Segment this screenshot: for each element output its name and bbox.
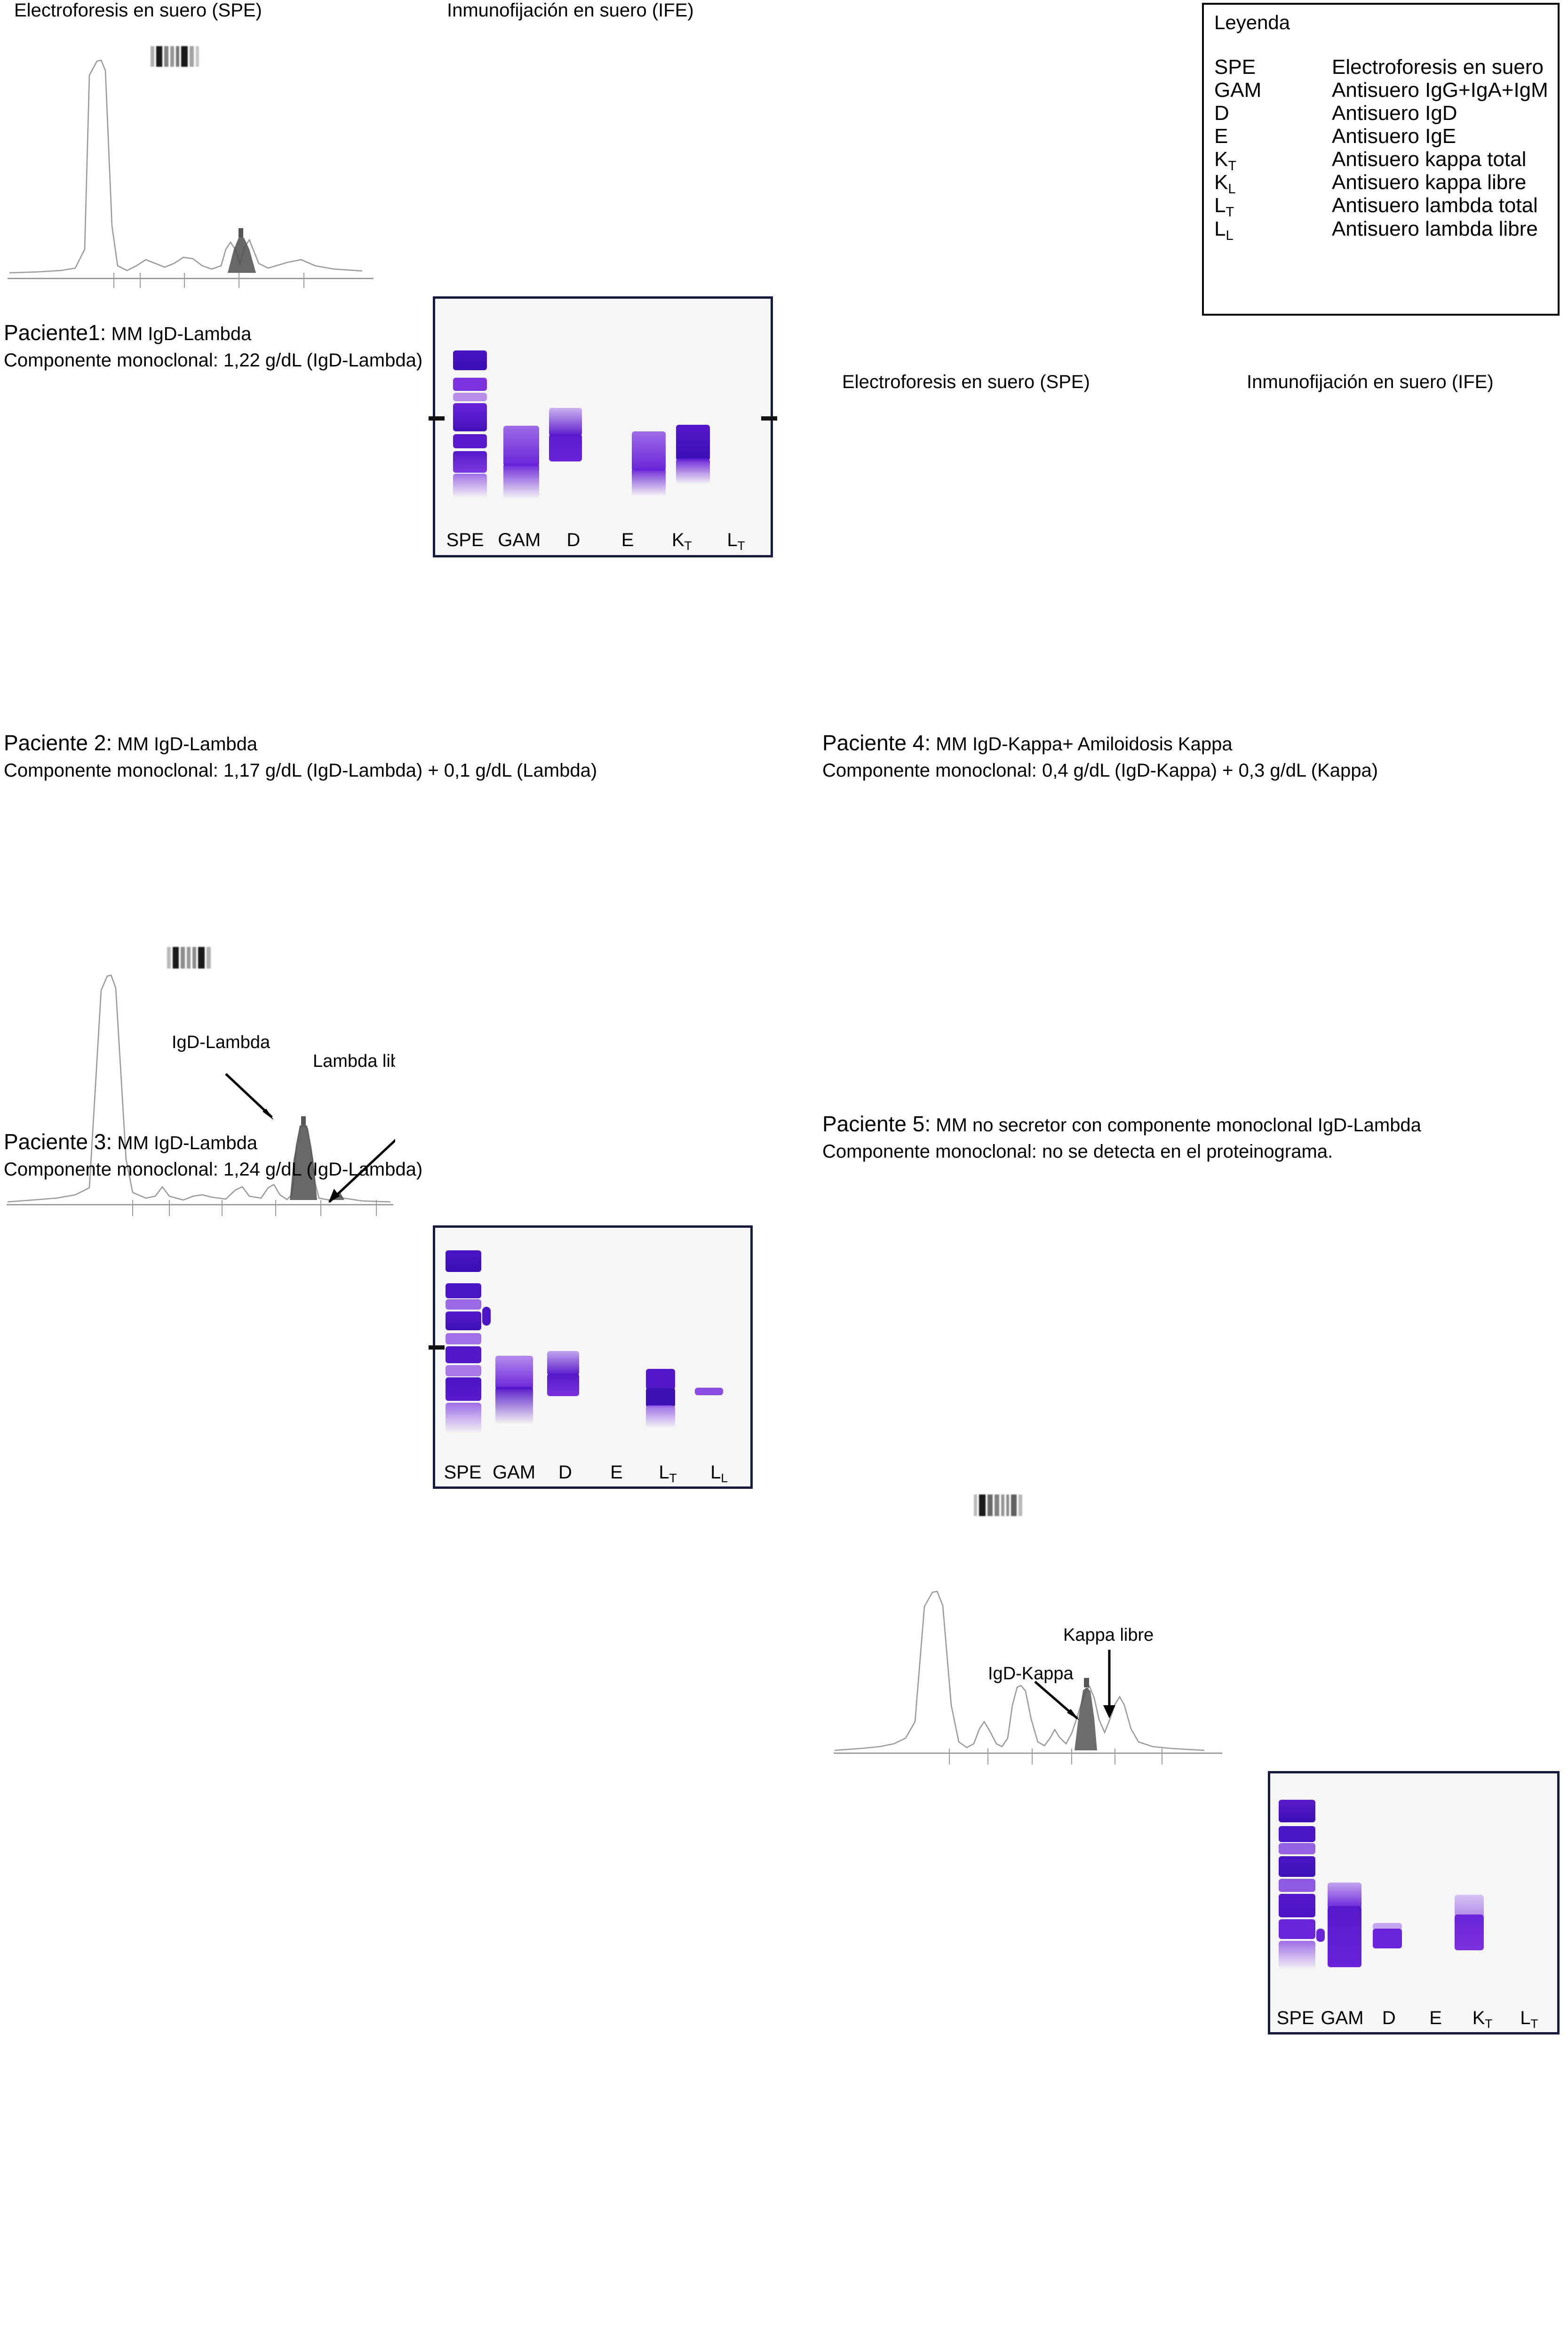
lane-label-e: E	[591, 1463, 642, 1482]
legend-key: SPE	[1214, 56, 1332, 79]
legend-key-text: GAM	[1214, 79, 1261, 102]
patient2-component: Componente monoclonal: 1,17 g/dL (IgD-La…	[4, 760, 597, 781]
patient1-component: Componente monoclonal: 1,22 g/dL (IgD-La…	[4, 350, 422, 371]
patient1-caption-line1: Paciente1: MM IgD-Lambda	[4, 320, 422, 345]
legend-box: Leyenda SPE Electroforesis en suero GAM …	[1202, 3, 1560, 316]
patient2-lane-labels: SPE GAM D E LT LL	[435, 1451, 750, 1486]
lane-label-d: D	[1366, 2009, 1412, 2027]
barcode-strip-icon	[151, 46, 199, 67]
legend-desc: Antisuero IgD	[1332, 102, 1548, 125]
patient1-caption: Paciente1: MM IgD-Lambda Componente mono…	[4, 320, 422, 371]
patient2-caption-line1: Paciente 2: MM IgD-Lambda	[4, 730, 597, 755]
gel-band	[547, 1351, 579, 1375]
patient5-name: Paciente 5:	[822, 1112, 931, 1136]
gel-band	[453, 350, 487, 370]
legend-key: D	[1214, 102, 1332, 125]
patient2-annotation-lambda-libre: Lambda libre	[313, 1051, 395, 1072]
patient3-component: Componente monoclonal: 1,24 g/dL (IgD-La…	[4, 1159, 422, 1180]
gel-band	[1279, 1919, 1315, 1939]
patient2-diagnosis: MM IgD-Lambda	[112, 734, 257, 755]
ife-title: Inmunofijación en suero (IFE)	[447, 0, 694, 21]
patient5-caption-line1: Paciente 5: MM no secretor con component…	[822, 1111, 1421, 1136]
patient4-component: Componente monoclonal: 0,4 g/dL (IgD-Kap…	[822, 760, 1378, 781]
patient5-caption: Paciente 5: MM no secretor con component…	[822, 1111, 1421, 1162]
patient1-ife-title-wrap: Inmunofijación en suero (IFE)	[447, 0, 694, 21]
patient4-spe-trace: IgD-Kappa Kappa libre	[833, 1484, 1223, 1766]
gel-band	[446, 1311, 481, 1330]
legend-key-text: L	[1214, 217, 1226, 240]
legend-key: LT	[1214, 194, 1332, 217]
legend-row: GAM Antisuero IgG+IgA+IgM	[1214, 79, 1548, 102]
patient1-spe-title-wrap: Electroforesis en suero (SPE)	[14, 0, 262, 21]
gel-band	[547, 1374, 579, 1396]
legend-desc: Antisuero lambda libre	[1332, 217, 1548, 240]
spe-title: Electroforesis en suero (SPE)	[842, 372, 1090, 393]
gel-band	[1279, 1941, 1315, 1970]
gel-band	[676, 459, 710, 484]
gel-band	[646, 1406, 675, 1428]
lane-label-e: E	[1412, 2009, 1459, 2027]
lane-label-spe: SPE	[1272, 2009, 1319, 2027]
patient2-ife-gel: SPE GAM D E LT LL	[433, 1225, 753, 1489]
lane-label-gam: GAM	[492, 531, 546, 549]
patient1-lane-labels: SPE GAM D E KT LT	[435, 516, 771, 555]
gel-band	[446, 1377, 481, 1401]
legend-key-text: K	[1214, 171, 1228, 194]
gel-band	[453, 378, 487, 391]
patient1-ife-gel: SPE GAM D E KT LT	[433, 296, 773, 557]
patient3-caption: Paciente 3: MM IgD-Lambda Componente mon…	[4, 1129, 422, 1180]
gel-band	[453, 393, 487, 401]
gel-band	[1279, 1843, 1315, 1854]
patient2-caption: Paciente 2: MM IgD-Lambda Componente mon…	[4, 730, 597, 781]
gel-band	[446, 1283, 481, 1298]
lane-label-ll: LL	[693, 1463, 745, 1482]
patient2-annotation-igd-lambda: IgD-Lambda	[172, 1033, 270, 1053]
lane-label-e: E	[601, 531, 655, 549]
gel-band	[453, 451, 487, 473]
lane-label-d: D	[546, 531, 600, 549]
gel-background	[435, 1228, 750, 1486]
spe-title: Electroforesis en suero (SPE)	[14, 0, 262, 21]
patient4-caption-line1: Paciente 4: MM IgD-Kappa+ Amiloidosis Ka…	[822, 730, 1378, 755]
legend-desc: Electroforesis en suero	[1332, 56, 1548, 79]
patient1-name: Paciente1:	[4, 320, 106, 345]
patient4-spe-title-wrap: Electroforesis en suero (SPE)	[842, 372, 1090, 393]
gel-right-tick-marker	[761, 416, 777, 421]
gel-band	[453, 403, 487, 431]
patient4-lane-labels: SPE GAM D E KT LT	[1270, 1996, 1557, 2032]
lane-label-kt: KT	[1459, 2009, 1505, 2027]
barcode-strip-icon	[974, 1494, 1022, 1516]
legend-row: E Antisuero IgE	[1214, 125, 1548, 148]
gel-band	[549, 408, 582, 436]
gel-band	[446, 1346, 481, 1363]
legend-key-subscript: L	[1226, 228, 1233, 243]
gel-band	[503, 463, 539, 499]
lane-label-gam: GAM	[1319, 2009, 1365, 2027]
gel-band	[446, 1333, 481, 1344]
legend-row: LL Antisuero lambda libre	[1214, 217, 1548, 240]
legend-desc: Antisuero IgE	[1332, 125, 1548, 148]
patient4-diagnosis: MM IgD-Kappa+ Amiloidosis Kappa	[931, 734, 1232, 755]
lane-label-kt: KT	[655, 531, 709, 549]
gel-band	[632, 468, 666, 496]
gel-left-tick-marker	[429, 416, 445, 421]
gel-band	[1279, 1826, 1315, 1842]
gel-band	[646, 1369, 675, 1390]
ife-title: Inmunofijación en suero (IFE)	[1247, 372, 1494, 393]
gel-band	[1328, 1906, 1361, 1967]
legend-row: D Antisuero IgD	[1214, 102, 1548, 125]
patient5-diagnosis: MM no secretor con componente monoclonal…	[931, 1115, 1421, 1136]
gel-band	[632, 431, 666, 471]
patient1-diagnosis: MM IgD-Lambda	[106, 324, 251, 344]
legend-key-text: D	[1214, 102, 1229, 125]
patient5-component: Componente monoclonal: no se detecta en …	[822, 1141, 1421, 1162]
patient4-ife-gel: SPE GAM D E KT LT	[1268, 1771, 1560, 2034]
legend-key-text: SPE	[1214, 56, 1256, 79]
legend-key-text: K	[1214, 148, 1228, 171]
legend-key: KT	[1214, 148, 1332, 171]
lane-label-gam: GAM	[488, 1463, 540, 1482]
gel-band	[446, 1250, 481, 1272]
barcode-strip-icon	[167, 947, 211, 969]
legend-row: KL Antisuero kappa libre	[1214, 171, 1548, 194]
gel-band	[1373, 1929, 1402, 1948]
legend-title: Leyenda	[1214, 11, 1558, 34]
gel-band	[1316, 1929, 1325, 1942]
lane-label-d: D	[540, 1463, 591, 1482]
lane-label-spe: SPE	[438, 531, 492, 549]
lane-label-lt: LT	[642, 1463, 693, 1482]
gel-band	[446, 1299, 481, 1310]
patient4-caption: Paciente 4: MM IgD-Kappa+ Amiloidosis Ka…	[822, 730, 1378, 781]
gel-band	[503, 426, 539, 466]
gel-band	[1279, 1894, 1315, 1917]
gel-band	[646, 1388, 675, 1407]
legend-key-subscript: T	[1228, 159, 1236, 174]
legend-key: E	[1214, 125, 1332, 148]
gel-band	[495, 1356, 533, 1390]
gel-band	[446, 1403, 481, 1434]
legend-key-subscript: T	[1226, 205, 1234, 220]
lane-label-spe: SPE	[437, 1463, 488, 1482]
legend-desc: Antisuero kappa total	[1332, 148, 1548, 171]
patient4-annotation-kappa-libre: Kappa libre	[1063, 1625, 1154, 1645]
legend-desc: Antisuero kappa libre	[1332, 171, 1548, 194]
legend-key: GAM	[1214, 79, 1332, 102]
patient3-caption-line1: Paciente 3: MM IgD-Lambda	[4, 1129, 422, 1154]
gel-band	[1455, 1915, 1484, 1950]
lane-label-lt: LT	[1506, 2009, 1552, 2027]
patient2-name: Paciente 2:	[4, 731, 112, 755]
gel-band	[446, 1365, 481, 1376]
gel-band	[1279, 1879, 1315, 1892]
lane-label-lt: LT	[709, 531, 763, 549]
legend-row: LT Antisuero lambda total	[1214, 194, 1548, 217]
patient4-name: Paciente 4:	[822, 731, 931, 755]
gel-left-tick-marker	[429, 1345, 445, 1350]
legend-row: SPE Electroforesis en suero	[1214, 56, 1548, 79]
gel-band	[1279, 1800, 1315, 1822]
patient4-annotation-igd-kappa: IgD-Kappa	[988, 1664, 1074, 1684]
gel-band	[453, 434, 487, 448]
gel-band	[495, 1387, 533, 1424]
patient1-spe-trace	[5, 28, 376, 292]
legend-key: LL	[1214, 217, 1332, 240]
legend-table: SPE Electroforesis en suero GAM Antisuer…	[1214, 56, 1548, 240]
legend-key-text: E	[1214, 125, 1228, 148]
patient4-ife-title-wrap: Inmunofijación en suero (IFE)	[1247, 372, 1494, 393]
legend-key-text: L	[1214, 194, 1226, 217]
legend-key: KL	[1214, 171, 1332, 194]
gel-band	[482, 1307, 491, 1326]
gel-band	[549, 434, 582, 461]
patient3-name: Paciente 3:	[4, 1129, 112, 1154]
gel-band	[1328, 1883, 1361, 1909]
legend-desc: Antisuero lambda total	[1332, 194, 1548, 217]
gel-band	[1455, 1895, 1484, 1917]
gel-band	[453, 474, 487, 498]
legend-key-subscript: L	[1228, 182, 1235, 197]
legend-row: KT Antisuero kappa total	[1214, 148, 1548, 171]
legend-desc: Antisuero IgG+IgA+IgM	[1332, 79, 1548, 102]
gel-band	[1279, 1856, 1315, 1877]
gel-band	[695, 1388, 723, 1395]
gel-band	[676, 425, 710, 461]
patient3-diagnosis: MM IgD-Lambda	[112, 1133, 257, 1153]
